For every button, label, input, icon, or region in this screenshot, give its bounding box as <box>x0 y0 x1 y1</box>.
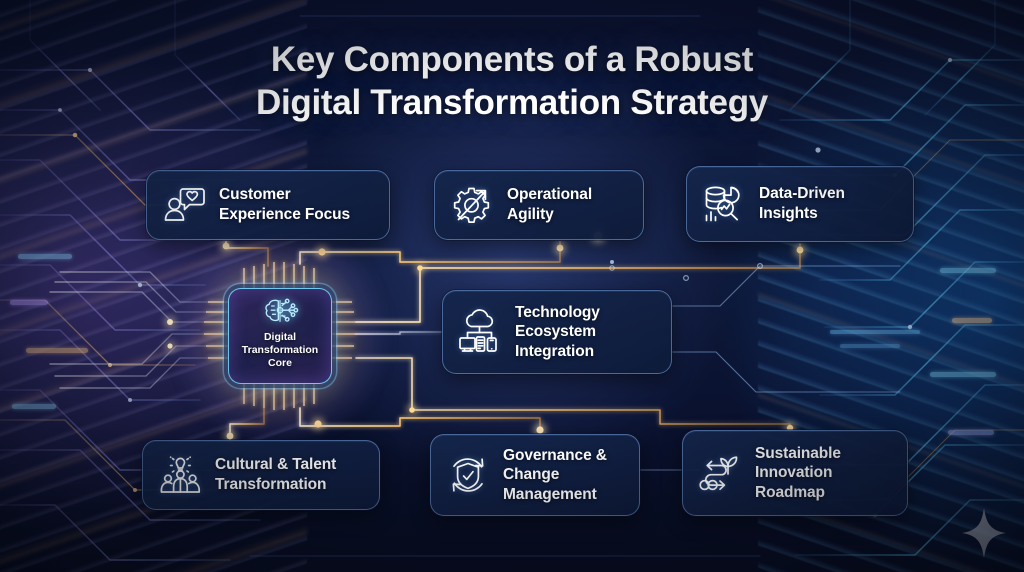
card-label-line-1: Data-Driven <box>759 185 845 202</box>
ai-brain-chip-icon <box>260 296 300 326</box>
people-lightbulb-icon <box>157 452 203 498</box>
card-data-driven-insights[interactable]: Data-Driven Insights <box>686 166 914 242</box>
infographic-canvas: Key Components of a Robust Digital Trans… <box>0 0 1024 572</box>
card-label-line-1: Customer <box>219 186 291 203</box>
card-label-governance-change-management: Governance & Change Management <box>503 446 607 505</box>
core-label-line-1: Digital <box>264 331 296 343</box>
sprout-infinity-path-icon <box>697 450 743 496</box>
core-label-line-2: Transformation <box>242 344 318 356</box>
card-label-line-2: Change <box>503 466 559 483</box>
card-label-line-3: Integration <box>515 343 594 360</box>
card-label-line-2: Ecosystem <box>515 323 596 340</box>
card-label-line-3: Roadmap <box>755 484 825 501</box>
card-governance-change-management[interactable]: Governance & Change Management <box>430 434 640 516</box>
card-label-cultural-talent-transformation: Cultural & Talent Transformation <box>215 455 336 494</box>
card-label-line-1: Technology <box>515 304 600 321</box>
card-label-line-2: Innovation <box>755 464 832 481</box>
card-label-line-2: Transformation <box>215 476 326 493</box>
gear-arrow-icon <box>449 182 495 228</box>
card-label-line-1: Governance & <box>503 447 607 464</box>
page-title-line-2: Digital Transformation Strategy <box>0 81 1024 124</box>
card-label-operational-agility: Operational Agility <box>507 185 592 224</box>
database-chart-magnifier-icon <box>701 181 747 227</box>
card-label-customer-experience-focus: Customer Experience Focus <box>219 185 350 224</box>
shield-check-refresh-icon <box>445 452 491 498</box>
four-point-star-icon <box>962 508 1006 558</box>
card-label-line-1: Operational <box>507 186 592 203</box>
page-title-line-1: Key Components of a Robust <box>0 38 1024 81</box>
card-label-technology-ecosystem-integration: Technology Ecosystem Integration <box>515 303 600 362</box>
core-label: Digital Transformation Core <box>242 331 318 371</box>
page-title: Key Components of a Robust Digital Trans… <box>0 38 1024 125</box>
card-operational-agility[interactable]: Operational Agility <box>434 170 644 240</box>
card-label-sustainable-innovation-roadmap: Sustainable Innovation Roadmap <box>755 444 841 503</box>
card-technology-ecosystem-integration[interactable]: Technology Ecosystem Integration <box>442 290 672 374</box>
card-label-line-3: Management <box>503 486 597 503</box>
card-label-line-2: Experience Focus <box>219 206 350 223</box>
card-cultural-talent-transformation[interactable]: Cultural & Talent Transformation <box>142 440 380 510</box>
card-label-line-2: Insights <box>759 205 818 222</box>
card-label-line-2: Agility <box>507 206 554 223</box>
card-customer-experience-focus[interactable]: Customer Experience Focus <box>146 170 390 240</box>
card-sustainable-innovation-roadmap[interactable]: Sustainable Innovation Roadmap <box>682 430 908 516</box>
card-label-data-driven-insights: Data-Driven Insights <box>759 184 845 223</box>
digital-transformation-core-node[interactable]: Digital Transformation Core <box>228 288 332 384</box>
card-label-line-1: Sustainable <box>755 445 841 462</box>
user-heart-chat-icon <box>161 182 207 228</box>
cloud-devices-icon <box>457 309 503 355</box>
core-label-line-3: Core <box>268 357 292 369</box>
card-label-line-1: Cultural & Talent <box>215 456 336 473</box>
